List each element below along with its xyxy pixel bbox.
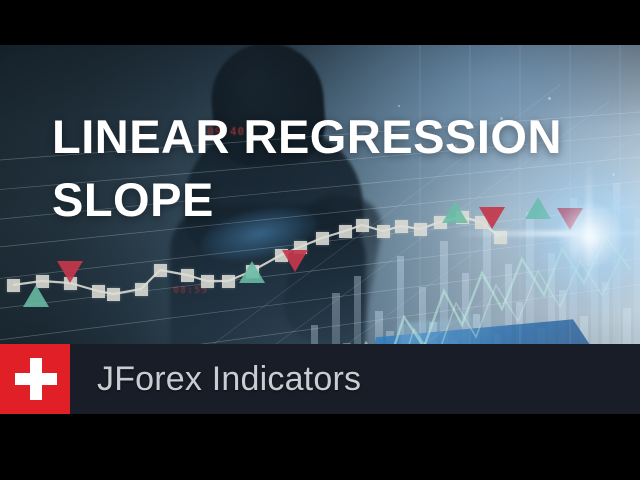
lens-flare-streak-h bbox=[455, 231, 640, 236]
page-title: LINEAR REGRESSIONSLOPE bbox=[52, 105, 562, 231]
title-line-2: SLOPE bbox=[52, 168, 562, 231]
letterbox-top bbox=[0, 0, 640, 45]
price-marker-square bbox=[154, 264, 167, 277]
price-marker-square bbox=[222, 275, 235, 288]
price-marker-square bbox=[316, 232, 329, 245]
signal-marker-buy bbox=[23, 285, 49, 307]
lens-flare-streak-v bbox=[587, 157, 591, 307]
signal-marker-sell bbox=[57, 261, 83, 283]
price-marker-square bbox=[181, 269, 194, 282]
brand-label: JForex Indicators bbox=[97, 360, 361, 399]
price-marker-square bbox=[92, 285, 105, 298]
price-marker-square bbox=[201, 275, 214, 288]
letterbox-bottom bbox=[0, 414, 640, 480]
video-thumbnail: 09:40 08:55 bbox=[0, 0, 640, 480]
sparkle-dot bbox=[548, 97, 551, 100]
price-marker-square bbox=[135, 283, 148, 296]
price-marker-square bbox=[7, 279, 20, 292]
signal-marker-sell bbox=[282, 250, 308, 272]
signal-marker-buy bbox=[239, 261, 265, 283]
swiss-flag-icon bbox=[0, 344, 70, 414]
sparkle-dot bbox=[612, 173, 615, 176]
title-line-1: LINEAR REGRESSION bbox=[52, 110, 562, 163]
brand-bar: JForex Indicators bbox=[0, 344, 640, 414]
price-marker-square bbox=[107, 288, 120, 301]
swiss-cross-horizontal bbox=[15, 373, 57, 385]
